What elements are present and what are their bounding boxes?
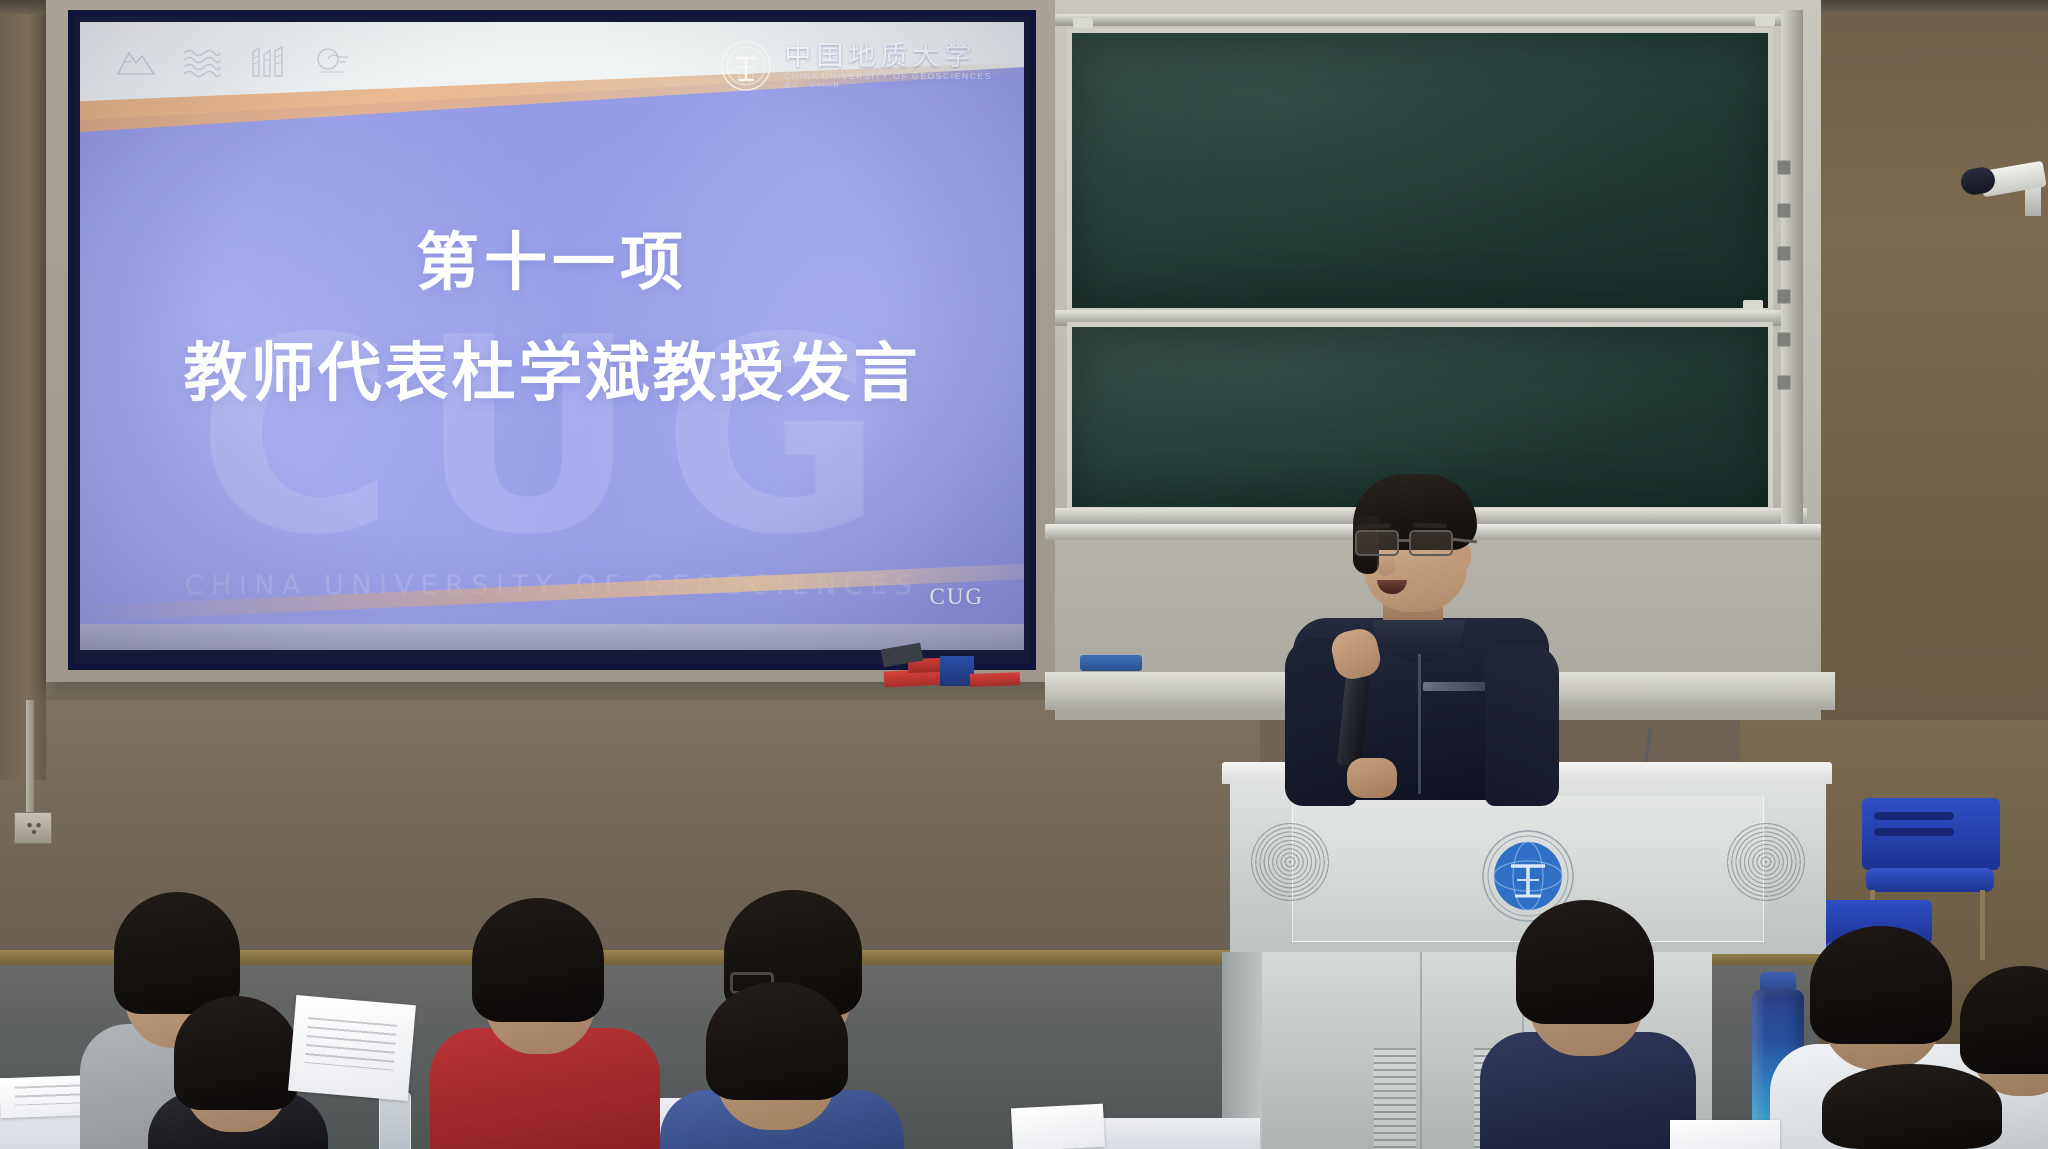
eyeglass-lens bbox=[1409, 530, 1453, 556]
classroom-scene: 中国地质大学 CHINA UNIVERSITY OF GEOSCIENCES 武… bbox=[0, 0, 2048, 1149]
audience-member bbox=[1822, 1064, 2002, 1149]
presenter-resting-hand bbox=[1347, 758, 1397, 798]
board-handle[interactable] bbox=[1777, 246, 1791, 261]
presenter-figure bbox=[1285, 468, 1555, 798]
blue-box bbox=[940, 656, 974, 686]
cabinet-vent bbox=[1374, 1048, 1416, 1149]
eyeglass-lens bbox=[1355, 530, 1399, 556]
ledge-book-stack bbox=[880, 640, 1030, 686]
outlet-socket-holes bbox=[25, 821, 43, 835]
outlet-conduit bbox=[26, 700, 34, 820]
handheld-paper[interactable] bbox=[288, 995, 416, 1101]
podium-speaker-grille-left bbox=[1248, 820, 1332, 904]
board-clip bbox=[1743, 300, 1763, 310]
audience-hair bbox=[174, 996, 298, 1110]
chalkboard-panel-upper[interactable] bbox=[1067, 28, 1773, 313]
slide-surface: 中国地质大学 CHINA UNIVERSITY OF GEOSCIENCES 武… bbox=[80, 22, 1024, 650]
audience-hair bbox=[1516, 900, 1654, 1024]
audience-hair bbox=[472, 898, 604, 1022]
presenter-right-arm bbox=[1485, 644, 1559, 806]
chair-back-slot bbox=[1874, 828, 1954, 836]
podium-speaker-grille-right bbox=[1724, 820, 1808, 904]
security-camera-icon bbox=[1955, 150, 2045, 220]
board-handle[interactable] bbox=[1777, 289, 1791, 304]
camera-mount bbox=[2025, 186, 2041, 216]
audience-hair bbox=[1960, 966, 2048, 1074]
cabinet-door-seam bbox=[1420, 952, 1422, 1149]
board-handle[interactable] bbox=[1777, 160, 1791, 175]
jacket-zipper bbox=[1418, 654, 1421, 794]
audience-member bbox=[660, 982, 904, 1149]
chair-backrest bbox=[1862, 798, 2000, 870]
paper-text-lines bbox=[305, 1017, 397, 1071]
board-handle-group[interactable] bbox=[1777, 160, 1795, 390]
desk-paper[interactable] bbox=[1011, 1104, 1105, 1149]
board-handle[interactable] bbox=[1777, 332, 1791, 347]
eyeglass-bridge bbox=[1399, 539, 1411, 542]
red-book bbox=[970, 672, 1020, 687]
board-handle[interactable] bbox=[1777, 203, 1791, 218]
board-clip bbox=[1073, 18, 1093, 28]
jacket-chest-logo bbox=[1423, 682, 1485, 691]
audience-hair bbox=[706, 982, 848, 1100]
power-outlet-icon[interactable] bbox=[14, 812, 52, 844]
chalk-eraser[interactable] bbox=[1080, 655, 1142, 671]
audience-hair bbox=[1810, 926, 1952, 1044]
chair-back-slot bbox=[1874, 812, 1954, 820]
audience-member bbox=[430, 898, 660, 1149]
left-wall-edge bbox=[0, 0, 46, 780]
desk-paper[interactable] bbox=[1670, 1120, 1780, 1149]
screen-vignette bbox=[80, 22, 1024, 650]
chair-seat bbox=[1866, 868, 1994, 892]
presenter-nose bbox=[1377, 556, 1395, 576]
audience-member bbox=[1480, 900, 1696, 1149]
screen-inner-frame: 中国地质大学 CHINA UNIVERSITY OF GEOSCIENCES 武… bbox=[68, 10, 1036, 670]
audience-hair bbox=[1822, 1064, 2002, 1149]
board-track-top bbox=[1055, 14, 1797, 26]
eyeglasses-icon bbox=[1355, 530, 1471, 556]
board-clip bbox=[1755, 16, 1775, 26]
board-handle[interactable] bbox=[1777, 375, 1791, 390]
projection-screen-assembly: 中国地质大学 CHINA UNIVERSITY OF GEOSCIENCES 武… bbox=[46, 0, 1056, 690]
